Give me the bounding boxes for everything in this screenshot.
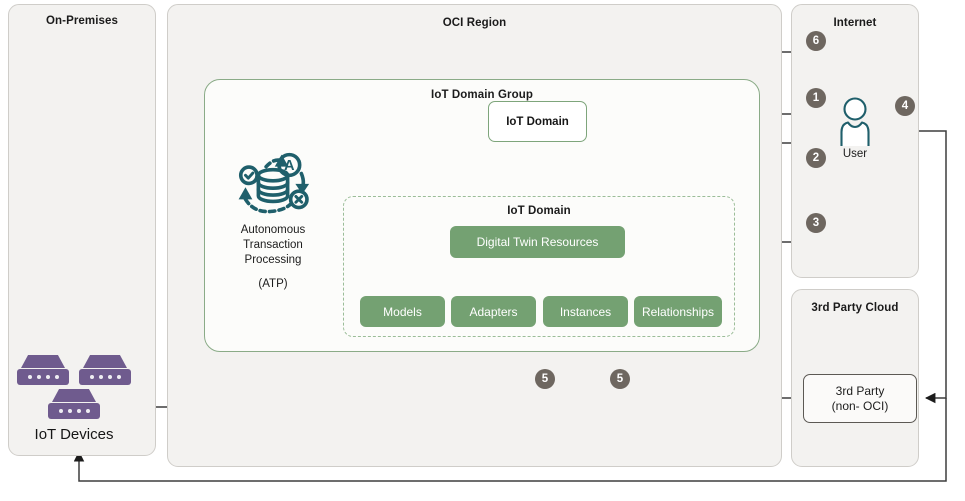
device-body xyxy=(17,369,69,385)
atp-label-line1: Autonomous xyxy=(208,223,338,238)
third-party-cloud-title: 3rd Party Cloud xyxy=(792,302,918,314)
step-badge-4: 4 xyxy=(895,96,915,116)
internet-title: Internet xyxy=(792,17,918,29)
iot-device-icon xyxy=(79,355,131,385)
resource-box-instances[interactable]: Instances xyxy=(543,296,628,327)
step-badge-5-left: 5 xyxy=(535,369,555,389)
step-badge-6: 6 xyxy=(806,31,826,51)
resource-box-adapters[interactable]: Adapters xyxy=(451,296,536,327)
third-party-box[interactable]: 3rd Party (non- OCI) xyxy=(803,374,917,423)
user-label: User xyxy=(836,148,874,160)
step-badge-2: 2 xyxy=(806,148,826,168)
third-party-box-line1: 3rd Party xyxy=(832,384,889,399)
iot-device-icon xyxy=(48,389,100,419)
third-party-box-line2: (non- OCI) xyxy=(832,399,889,414)
device-top-shape xyxy=(21,355,65,368)
resource-box-models[interactable]: Models xyxy=(360,296,445,327)
svg-text:A: A xyxy=(284,158,295,174)
step-badge-3: 3 xyxy=(806,213,826,233)
atp-label: Autonomous Transaction Processing xyxy=(208,223,338,268)
on-premises-title: On-Premises xyxy=(9,15,155,27)
atp-group: A Autonomous Transaction Processing (ATP… xyxy=(208,146,338,290)
iot-device-icon xyxy=(17,355,69,385)
atp-label-line2: Transaction xyxy=(208,238,338,253)
digital-twin-resources-box[interactable]: Digital Twin Resources xyxy=(450,226,625,258)
device-top-shape xyxy=(83,355,127,368)
device-body xyxy=(79,369,131,385)
device-top-shape xyxy=(52,389,96,402)
atp-label-line3: Processing xyxy=(208,253,338,268)
iot-domain-box[interactable]: IoT Domain xyxy=(488,101,587,142)
iot-domain-group-title: IoT Domain Group xyxy=(205,89,759,101)
iot-domain-inner-title: IoT Domain xyxy=(344,205,734,217)
step-badge-1: 1 xyxy=(806,88,826,108)
iot-devices-group: IoT Devices xyxy=(0,355,148,443)
user-group: User xyxy=(836,96,874,160)
user-icon xyxy=(838,96,872,146)
step-badge-5-right: 5 xyxy=(610,369,630,389)
oci-region-title: OCI Region xyxy=(168,17,781,29)
iot-devices-label: IoT Devices xyxy=(0,426,148,443)
autonomous-database-icon: A xyxy=(230,146,316,220)
iot-device-row-bottom xyxy=(0,389,148,419)
resource-box-relationships[interactable]: Relationships xyxy=(634,296,722,327)
device-body xyxy=(48,403,100,419)
iot-device-row-top xyxy=(0,355,148,385)
architecture-diagram: On-Premises xyxy=(0,0,965,501)
atp-abbreviation: (ATP) xyxy=(208,278,338,290)
